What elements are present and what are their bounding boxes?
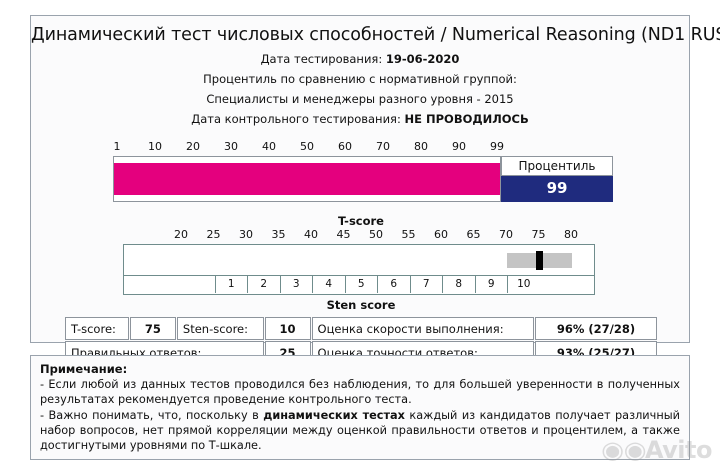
page-title: Динамический тест числовых способностей … xyxy=(31,25,689,45)
percentile-tick: 30 xyxy=(224,140,238,153)
percentile-legend: Процентиль 99 xyxy=(501,156,613,202)
sten-title: Sten score xyxy=(61,298,661,312)
sten-cell: 8 xyxy=(442,276,475,293)
tscore-track xyxy=(123,244,595,276)
norm-group-line: Специалисты и менеджеры разного уровня -… xyxy=(31,92,689,106)
test-date-value: 19-06-2020 xyxy=(386,52,460,66)
tscore-tick: 70 xyxy=(499,228,513,241)
sten-cell: 2 xyxy=(247,276,280,293)
tscore-tick: 35 xyxy=(272,228,286,241)
percentile-chart: 110203040506070809099 Процентиль 99 xyxy=(113,140,613,202)
percentile-legend-title: Процентиль xyxy=(501,156,613,176)
percentile-axis: 110203040506070809099 xyxy=(113,140,613,156)
percentile-tick: 50 xyxy=(300,140,314,153)
percentile-legend-value: 99 xyxy=(501,176,613,202)
percentile-tick: 70 xyxy=(376,140,390,153)
sten-cell: 4 xyxy=(312,276,345,293)
percentile-caption: Процентиль по сравнению с нормативной гр… xyxy=(31,72,689,86)
tscore-tick: 50 xyxy=(369,228,383,241)
note-panel: Примечание: - Если любой из данных тесто… xyxy=(30,355,690,460)
sten-cell: 9 xyxy=(475,276,508,293)
tscore-title: T-score xyxy=(61,214,661,228)
percentile-tick: 80 xyxy=(414,140,428,153)
tscore-tick: 80 xyxy=(564,228,578,241)
sten-cell: 5 xyxy=(345,276,378,293)
tscore-tick: 30 xyxy=(239,228,253,241)
report-panel: Динамический тест числовых способностей … xyxy=(30,15,690,343)
tscore-chart: 20253035404550556065707580 12345678910 xyxy=(123,228,595,295)
tscore-tick: 60 xyxy=(434,228,448,241)
sten-cell: 7 xyxy=(410,276,443,293)
speed-value-cell: 96% (27/28) xyxy=(535,317,657,340)
sten-scale: 12345678910 xyxy=(123,276,595,295)
percentile-tick: 1 xyxy=(114,140,121,153)
percentile-tick: 90 xyxy=(452,140,466,153)
retest-value: НЕ ПРОВОДИЛОСЬ xyxy=(405,112,529,126)
sten-cell: 10 xyxy=(507,276,540,293)
note-paragraph-2: - Важно понимать, что, поскольку в динам… xyxy=(40,409,680,454)
tscore-tick: 45 xyxy=(337,228,351,241)
percentile-bar-fill xyxy=(114,163,500,195)
tscore-tick: 75 xyxy=(532,228,546,241)
retest-line: Дата контрольного тестирования: НЕ ПРОВО… xyxy=(31,112,689,126)
percentile-tick: 60 xyxy=(338,140,352,153)
tscore-tick: 40 xyxy=(304,228,318,241)
percentile-tick: 40 xyxy=(262,140,276,153)
sten-value-cell: 10 xyxy=(265,317,311,340)
percentile-tick: 10 xyxy=(148,140,162,153)
tscore-label-cell: T-score: xyxy=(65,317,129,340)
tscore-marker xyxy=(536,251,543,270)
note-p2-emphasis: динамических тестах xyxy=(263,409,405,422)
sten-cell: 3 xyxy=(280,276,313,293)
sten-cell: 6 xyxy=(377,276,410,293)
percentile-tick: 99 xyxy=(490,140,504,153)
sten-label-cell: Sten-score: xyxy=(177,317,264,340)
percentile-bar-track xyxy=(113,156,501,202)
test-date-label: Дата тестирования: xyxy=(261,52,383,66)
note-paragraph-1: - Если любой из данных тестов проводился… xyxy=(40,378,680,408)
speed-label-cell: Оценка скорости выполнения: xyxy=(312,317,534,340)
tscore-tick: 65 xyxy=(467,228,481,241)
tscore-tick: 25 xyxy=(207,228,221,241)
tscore-axis: 20253035404550556065707580 xyxy=(123,228,595,244)
percentile-tick: 20 xyxy=(186,140,200,153)
sten-cell: 1 xyxy=(215,276,248,293)
tscore-tick: 20 xyxy=(174,228,188,241)
test-date-line: Дата тестирования: 19-06-2020 xyxy=(31,52,689,66)
tscore-tick: 55 xyxy=(402,228,416,241)
tscore-value-cell: 75 xyxy=(130,317,176,340)
retest-label: Дата контрольного тестирования: xyxy=(191,112,401,126)
note-p2-part-a: - Важно понимать, что, поскольку в xyxy=(40,409,263,422)
note-title: Примечание: xyxy=(40,362,680,376)
table-row: T-score: 75 Sten-score: 10 Оценка скорос… xyxy=(65,317,657,340)
